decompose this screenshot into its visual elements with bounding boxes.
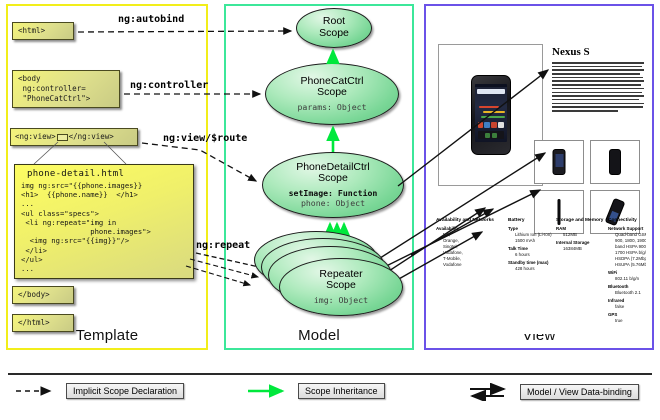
scope-prop-phone: phone: Object bbox=[289, 198, 378, 208]
ngview-close-tag: </ng:view> bbox=[69, 132, 114, 141]
code-box-body-close: </body> bbox=[12, 286, 74, 304]
scope-phonecatctrl-props: params: Object bbox=[297, 102, 366, 112]
code-box-body-tag: <body ng:controller= "PhoneCatCtrl"> bbox=[12, 70, 120, 108]
legend-label-scope-inheritance: Scope Inheritance bbox=[298, 383, 385, 399]
scope-phonedetailctrl-props: setImage: Function phone: Object bbox=[289, 188, 378, 209]
spec-heading-storage: Storage and Memory bbox=[556, 218, 608, 224]
legend-solid-green-arrow-icon bbox=[246, 384, 292, 398]
spec-value: Bluetooth 2.1 bbox=[615, 290, 646, 296]
phone-nav-row bbox=[478, 131, 504, 139]
view-page-title: Nexus S bbox=[552, 46, 590, 58]
phone-dock-row bbox=[478, 122, 504, 128]
view-body-text bbox=[552, 62, 644, 114]
scope-repeater: Repeater Scope img: Object bbox=[279, 258, 403, 316]
phone-widget-line-1 bbox=[479, 106, 499, 108]
spec-value: 16384MB bbox=[563, 246, 608, 252]
edge-label-ng-view-route: ng:view/$route bbox=[163, 133, 247, 144]
scope-prop-setimage: setImage: Function bbox=[289, 188, 378, 198]
scope-phonedetailctrl-title-line1: PhoneDetailCtrl bbox=[296, 161, 370, 173]
callout-filename: phone-detail.html bbox=[27, 169, 188, 179]
hero-image-frame bbox=[438, 44, 543, 186]
spec-value: 428 hours bbox=[515, 266, 556, 272]
callout-code: img ng:src="{{phone.images}} <h1> {{phon… bbox=[21, 181, 188, 273]
scope-root-title: Root Scope bbox=[319, 16, 349, 40]
spec-value: HSUPA (5.76Mbps) bbox=[615, 262, 646, 268]
spec-column-battery: Battery Type Lithium Ion (Li-Ion) 1500 m… bbox=[508, 218, 556, 324]
spec-value: Vodafone bbox=[443, 262, 508, 268]
spec-heading-connectivity: Connectivity bbox=[608, 218, 646, 224]
legend-dashed-arrow-icon bbox=[14, 384, 60, 398]
scope-root-title-line1: Root bbox=[323, 15, 345, 27]
scope-phonedetailctrl: PhoneDetailCtrl Scope setImage: Function… bbox=[262, 152, 404, 218]
legend-item-scope-inheritance: Scope Inheritance bbox=[246, 383, 385, 399]
legend-divider bbox=[8, 373, 652, 375]
view-rendered-page: Nexus S bbox=[434, 16, 646, 334]
thumbnail-phone-back[interactable] bbox=[590, 140, 640, 184]
ngview-open-tag: <ng:view> bbox=[15, 132, 56, 141]
code-box-ngview: <ng:view></ng:view> bbox=[10, 128, 138, 146]
edge-label-ng-controller: ng:controller bbox=[130, 80, 208, 91]
thumbnail-phone-front[interactable] bbox=[534, 140, 584, 184]
phone-dock-icon-4 bbox=[498, 122, 503, 128]
spec-heading-availability: Availability and Networks bbox=[436, 218, 508, 224]
code-box-html-tag: <html> bbox=[12, 22, 74, 40]
spec-value: 512MB bbox=[563, 232, 608, 238]
legend-label-model-view-data-binding: Model / View Data-binding bbox=[520, 384, 639, 400]
scope-phonecatctrl-title: PhoneCatCtrl Scope bbox=[300, 76, 363, 100]
phone-widget-line-3 bbox=[481, 116, 505, 118]
phone-statusbar bbox=[475, 84, 507, 87]
edge-label-ng-repeat: ng:repeat bbox=[196, 240, 250, 251]
phone-dock-icon-2 bbox=[484, 122, 489, 128]
edge-label-ng-autobind: ng:autobind bbox=[118, 14, 184, 25]
scope-repeater-title-line2: Scope bbox=[326, 279, 356, 291]
view-specs-table: Availability and Networks Availability M… bbox=[436, 218, 644, 324]
phone-searchbar bbox=[477, 89, 505, 94]
spec-value: true bbox=[615, 318, 646, 324]
legend: Implicit Scope Declaration Scope Inherit… bbox=[8, 383, 652, 407]
scope-root: Root Scope bbox=[296, 8, 372, 48]
phone-dock-icon-1 bbox=[478, 122, 483, 128]
scope-prop-img: img: Object bbox=[314, 295, 368, 305]
spec-column-availability: Availability and Networks Availability M… bbox=[436, 218, 508, 324]
legend-label-implicit-scope-declaration: Implicit Scope Declaration bbox=[66, 383, 184, 399]
scope-phonecatctrl-title-line1: PhoneCatCtrl bbox=[300, 75, 363, 87]
spec-value: 802.11 b/g/n bbox=[615, 276, 646, 282]
legend-item-implicit-scope-declaration: Implicit Scope Declaration bbox=[14, 383, 184, 399]
spec-column-connectivity: Connectivity Network Support Quad-band G… bbox=[608, 218, 646, 324]
thumb-front-screen bbox=[555, 154, 563, 167]
phone-nav-button-2 bbox=[492, 133, 497, 138]
spec-column-storage: Storage and Memory RAM 512MB Internal St… bbox=[556, 218, 608, 324]
scope-prop-params: params: Object bbox=[297, 102, 366, 112]
phone-widget-line-2 bbox=[483, 111, 505, 113]
scope-repeater-title: Repeater Scope bbox=[319, 269, 362, 293]
thumb-front-body bbox=[553, 149, 566, 175]
scope-repeater-title-line1: Repeater bbox=[319, 268, 362, 280]
spec-heading-battery: Battery bbox=[508, 218, 556, 224]
spec-value: 1500 mAh bbox=[515, 238, 556, 244]
spec-value: 6 hours bbox=[515, 252, 556, 258]
scope-phonecatctrl-title-line2: Scope bbox=[317, 86, 347, 98]
phone-hero-image bbox=[471, 75, 511, 155]
phone-screen bbox=[475, 84, 507, 142]
ngview-placeholder-icon bbox=[57, 134, 68, 141]
phone-dock-icon-3 bbox=[491, 122, 496, 128]
phone-nav-button-1 bbox=[485, 133, 490, 138]
scope-phonecatctrl: PhoneCatCtrl Scope params: Object bbox=[265, 63, 399, 125]
scope-repeater-props: img: Object bbox=[314, 295, 368, 305]
thumb-back-body bbox=[609, 149, 621, 175]
diagram-canvas: Template Model View <html> <body ng:cont… bbox=[0, 0, 660, 420]
scope-root-title-line2: Scope bbox=[319, 27, 349, 39]
code-box-html-close: </html> bbox=[12, 314, 74, 332]
scope-phonedetailctrl-title-line2: Scope bbox=[318, 172, 348, 184]
spec-value: false bbox=[615, 304, 646, 310]
column-label-model: Model bbox=[226, 327, 412, 344]
legend-double-arrow-icon bbox=[468, 383, 514, 401]
scope-phonedetailctrl-title: PhoneDetailCtrl Scope bbox=[296, 162, 370, 186]
template-callout-phone-detail: phone-detail.html img ng:src="{{phone.im… bbox=[14, 164, 194, 279]
legend-item-model-view-data-binding: Model / View Data-binding bbox=[468, 383, 639, 401]
